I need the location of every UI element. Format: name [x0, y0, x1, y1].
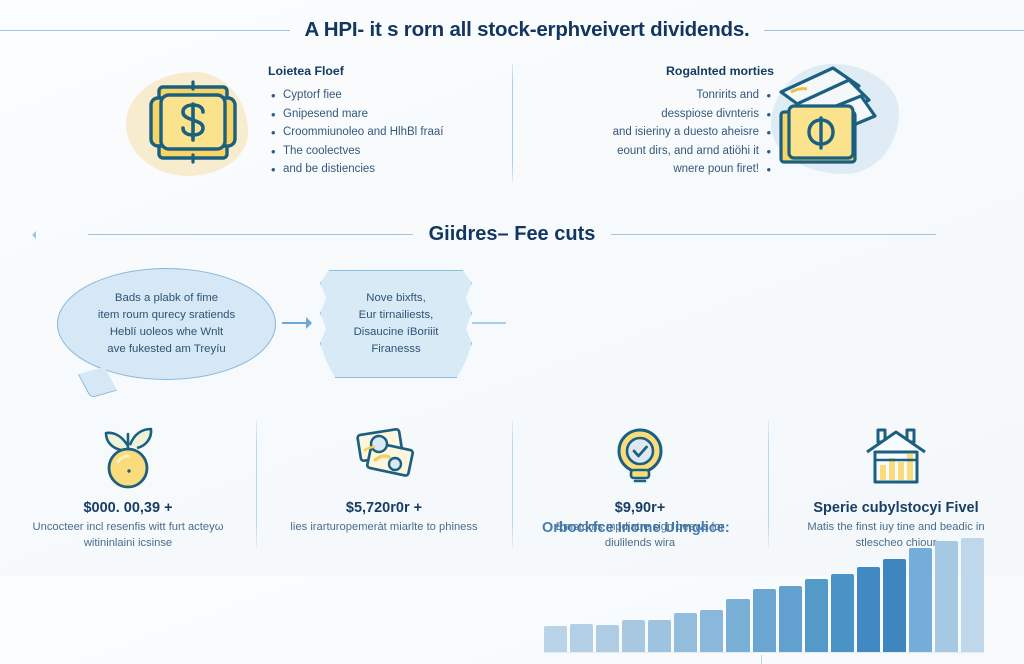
banknotes-icon	[345, 420, 423, 494]
section-rule-left	[88, 234, 413, 235]
chart-bar	[544, 626, 567, 652]
arrow-right-icon	[282, 316, 318, 330]
money-bill-icon-wrap	[118, 62, 268, 182]
column-divider	[512, 64, 513, 182]
right-bullet-list: Tonririts and desspiose divnteris and is…	[524, 86, 774, 179]
list-item: and isieriny a duesto aheisre	[524, 123, 774, 142]
chart-bar	[805, 579, 828, 652]
chart-bar	[570, 624, 593, 652]
page-title: A HPI- it s rorn all stock-erphveivert d…	[304, 18, 749, 42]
infographic-canvas: A HPI- it s rorn all stock-erphveivert d…	[0, 0, 1024, 576]
section-rule-right	[611, 234, 936, 235]
header-rule-right	[764, 30, 1024, 31]
flow-row: Bads a plabk of fime item roum qurecy sr…	[0, 256, 1024, 406]
chart-bar	[674, 613, 697, 652]
chart-bar	[648, 620, 671, 652]
header-rule-left	[0, 30, 290, 31]
list-item: Tonririts and	[524, 86, 774, 105]
chart-bar	[857, 567, 880, 652]
right-bullet-block: Rogalnted morties Tonririts and desspios…	[524, 62, 774, 179]
connector-shaft	[472, 322, 506, 324]
chart-bar	[622, 620, 645, 652]
chart-bar	[831, 574, 854, 652]
stat-card-1: $000. 00,39 + Uncocteer incl resenfis wi…	[0, 414, 256, 576]
stat-caption: lies irarturopemeràt miarlte to phiness	[290, 519, 477, 535]
cash-stack-icon-wrap	[763, 56, 913, 176]
cash-stack-icon	[763, 56, 913, 176]
stat-caption: Uncocteer incl resenfis witt furt acteyω…	[21, 519, 236, 551]
arrow-head	[306, 317, 318, 329]
money-bill-icon	[118, 62, 268, 182]
chart-bar	[726, 599, 749, 652]
list-item: The coolectves	[268, 142, 498, 161]
badge-line: Nove bixfts,	[366, 292, 426, 304]
speech-bubble-tail	[78, 367, 117, 398]
starburst-badge-text: Nove bixfts, Eur tirnailiests, Disaucine…	[354, 290, 439, 358]
stat-card-3: $9,90r+ Ernstoms mpdiatre sign beews lor…	[512, 414, 768, 576]
chart-bar	[753, 589, 776, 652]
speech-bubble-text: Bads a plabk of fime item roum qurecy sr…	[98, 290, 235, 358]
chart-bar	[779, 586, 802, 652]
left-bullet-heading: Loietea Floef	[268, 62, 498, 82]
stat-caption: Ernstoms mpdiatre sign beews lor diulile…	[533, 519, 748, 551]
stat-card-4: Sperie cubylstocyi Fivel Matis the finst…	[768, 414, 1024, 576]
chart-bar	[700, 610, 723, 652]
section-title: Giidres– Fee cuts	[429, 223, 596, 246]
stat-value: Sperie cubylstocyi Fivel	[813, 500, 978, 516]
chart-bar	[596, 625, 619, 652]
badge-line: Eur tirnailiests,	[359, 309, 434, 321]
left-bullet-block: Loietea Floef Cyptorf fiee Gnipesend mar…	[268, 62, 498, 179]
house-chart-icon	[857, 420, 935, 494]
chart-axis-tick	[761, 655, 762, 664]
list-item: Gnipesend mare	[268, 105, 498, 124]
bubble-line: Heblí uoleos whe Wnlt	[110, 326, 223, 338]
stat-caption: Matis the finst iuy tine and beadic in s…	[789, 519, 1004, 551]
arrow-shaft	[282, 322, 308, 324]
lightbulb-check-icon	[601, 420, 679, 494]
top-columns: Loietea Floef Cyptorf fiee Gnipesend mar…	[0, 56, 1024, 196]
header-band: A HPI- it s rorn all stock-erphveivert d…	[0, 6, 1024, 54]
list-item: and be distiencies	[268, 160, 498, 179]
list-item: eount dirs, and arnd atiöhi it	[524, 142, 774, 161]
starburst-badge: Nove bixfts, Eur tirnailiests, Disaucine…	[320, 270, 472, 378]
list-item: Cyptorf fiee	[268, 86, 498, 105]
stat-value: $000. 00,39 +	[83, 500, 172, 516]
connector-line-icon	[472, 316, 508, 330]
bubble-line: Bads a plabk of fime	[115, 292, 218, 304]
left-bullet-list: Cyptorf fiee Gnipesend mare Croommiunole…	[268, 86, 498, 179]
list-item: Croommiunoleo and HlhΒl fraaí	[268, 123, 498, 142]
speech-bubble: Bads a plabk of fime item roum qurecy sr…	[57, 268, 276, 380]
right-bullet-heading: Rogalnted morties	[524, 62, 774, 82]
section-header-band: Giidres– Fee cuts	[0, 212, 1024, 256]
bubble-line: item roum qurecy sratiends	[98, 309, 235, 321]
stats-row: $000. 00,39 + Uncocteer incl resenfis wi…	[0, 414, 1024, 576]
list-item: wnere poun firet!	[524, 160, 774, 179]
stat-card-2: $5,720r0r + lies irarturopemeràt miarlte…	[256, 414, 512, 576]
fruit-orange-icon	[89, 420, 167, 494]
list-item: desspiose divnteris	[524, 105, 774, 124]
badge-line: Disaucine íBoriiit	[354, 326, 439, 338]
chart-axis-line	[544, 652, 984, 653]
badge-line: Firanesss	[371, 343, 420, 355]
bubble-line: ave fukested am Treyíu	[107, 343, 225, 355]
stat-value: $9,90r+	[615, 500, 665, 516]
stat-value: $5,720r0r +	[346, 500, 422, 516]
